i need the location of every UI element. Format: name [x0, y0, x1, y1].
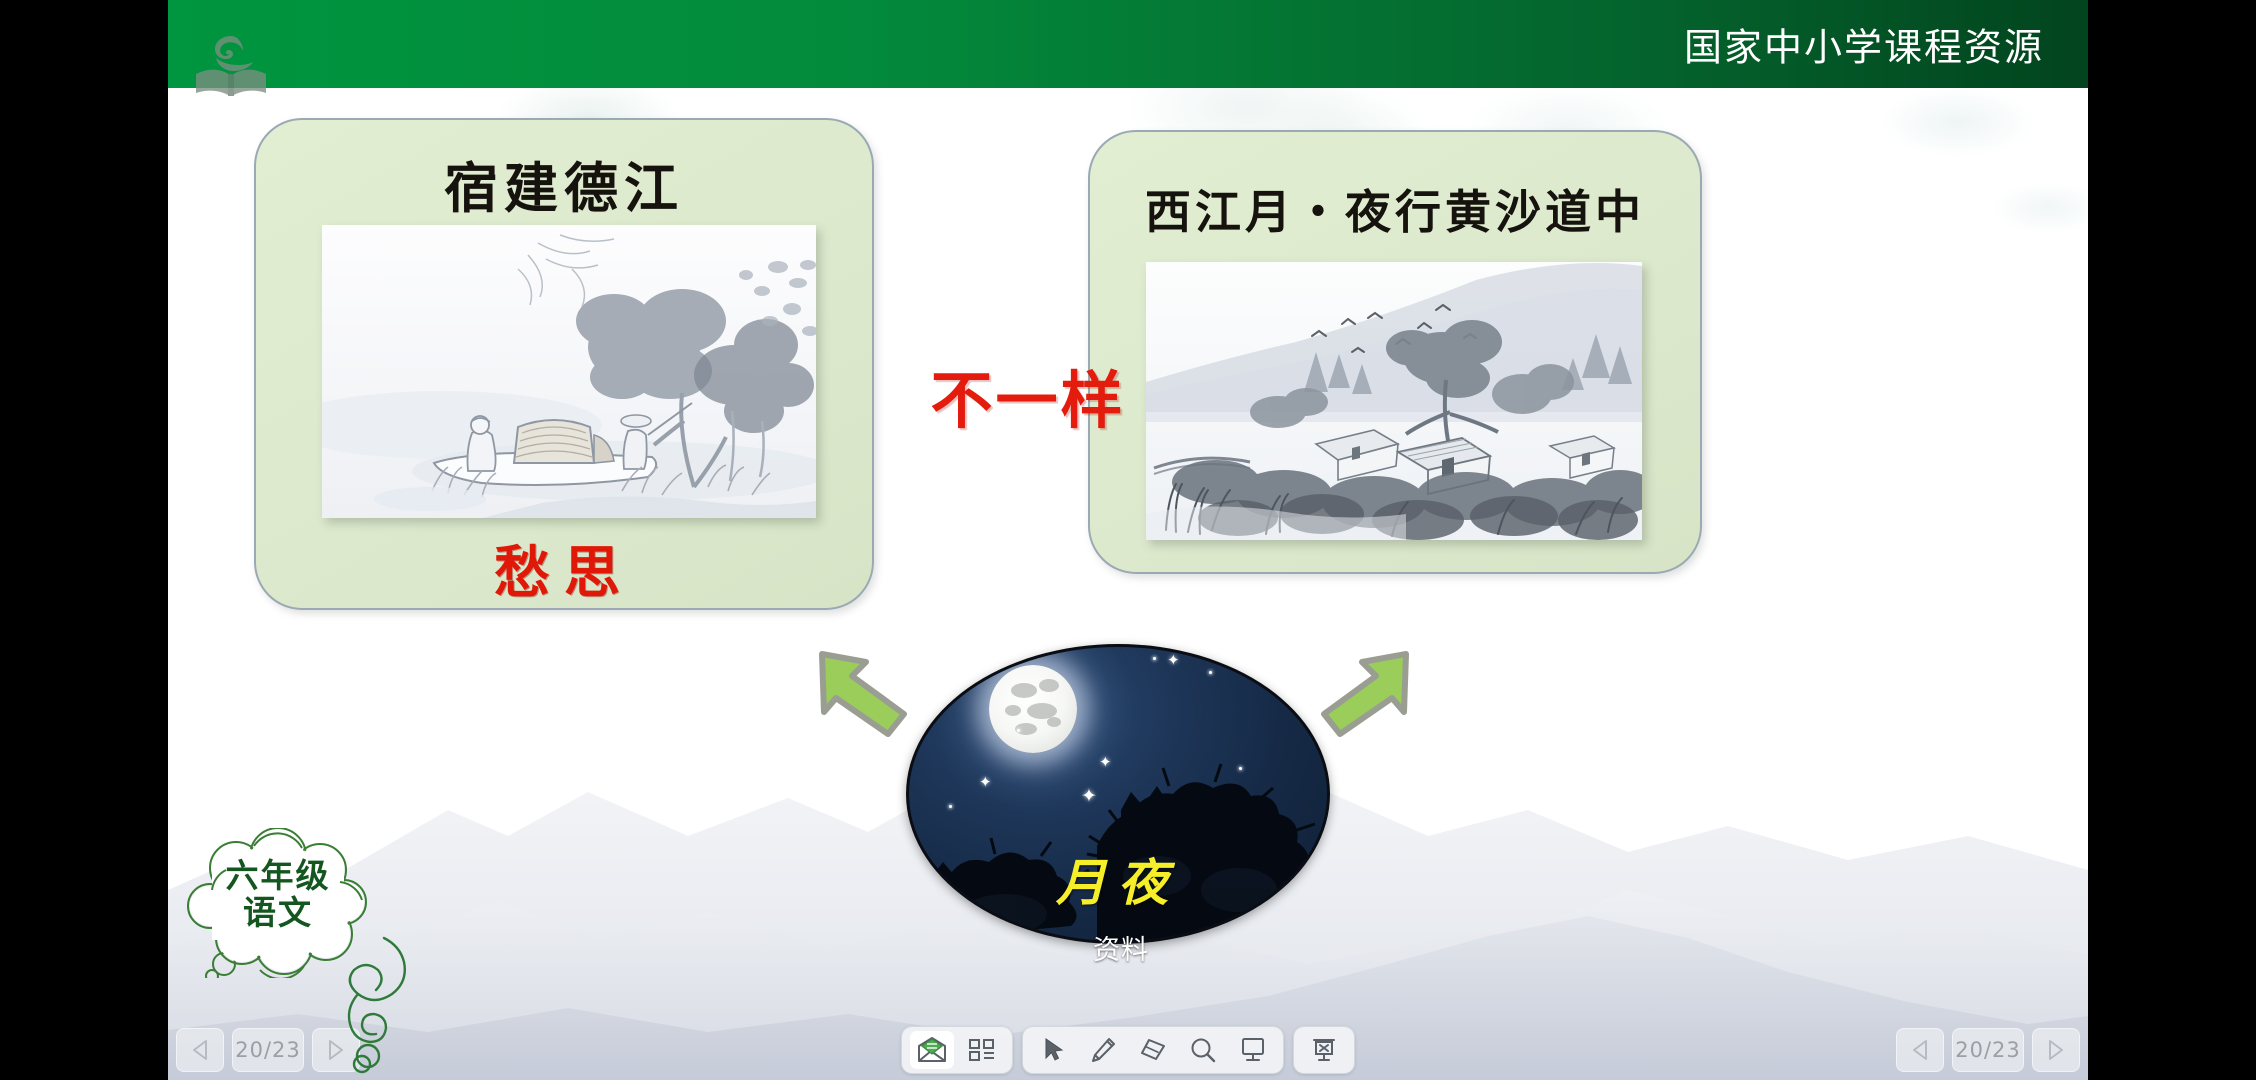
- pen-button[interactable]: [1081, 1031, 1125, 1069]
- layout-grid-icon: [968, 1038, 996, 1062]
- triangle-right-icon: [2045, 1038, 2067, 1062]
- layout-grid-button[interactable]: [960, 1031, 1004, 1069]
- app-header: 国家中小学课程资源: [168, 0, 2088, 88]
- green-ink-scribble-icon: [288, 936, 418, 1076]
- app-viewport: 国家中小学课程资源: [168, 0, 2088, 1080]
- exit-presentation-button[interactable]: [1302, 1031, 1346, 1069]
- poem-title-right: 西江月・夜行黄沙道中: [1090, 176, 1700, 242]
- presentation-toolbar: [901, 1026, 1355, 1074]
- page-counter: 20/23: [1952, 1028, 2024, 1072]
- eraser-button[interactable]: [1131, 1031, 1175, 1069]
- night-scene-title: 月夜: [909, 843, 1327, 915]
- cursor-arrow-button[interactable]: [1031, 1031, 1075, 1069]
- toolbar-group-tools: [1022, 1026, 1284, 1074]
- poem-title-left: 宿建德江: [256, 144, 872, 223]
- arrow-up-left-icon: [808, 642, 920, 746]
- prev-page-button[interactable]: [176, 1028, 224, 1072]
- letterbox-left: [0, 0, 168, 1080]
- next-page-button[interactable]: [2032, 1028, 2080, 1072]
- screen-root: 国家中小学课程资源: [0, 0, 2256, 1080]
- triangle-left-icon: [189, 1038, 211, 1062]
- night-scene-ellipse: ✦ ✦ ✦ ✦: [906, 644, 1330, 944]
- magnifier-icon: [1190, 1037, 1216, 1063]
- ink-painting-boat-river: [322, 225, 816, 518]
- poem-card-right: 西江月・夜行黄沙道中: [1088, 130, 1702, 574]
- pen-icon: [1090, 1037, 1116, 1063]
- contrast-label: 不一样: [908, 350, 1148, 440]
- magnifier-button[interactable]: [1181, 1031, 1225, 1069]
- book-swirl-logo-icon: [192, 30, 270, 100]
- prev-page-button[interactable]: [1896, 1028, 1944, 1072]
- envelope-resource-button[interactable]: [910, 1031, 954, 1069]
- page-nav-right[interactable]: 20/23: [1896, 1028, 2080, 1072]
- header-title: 国家中小学课程资源: [1684, 17, 2044, 72]
- slide-canvas: 宿建德江: [168, 88, 2088, 1080]
- toolbar-group-resources: [901, 1026, 1013, 1074]
- toolbar-group-exit: [1293, 1026, 1355, 1074]
- whiteboard-button[interactable]: [1231, 1031, 1275, 1069]
- star-icon: ✦: [1167, 653, 1180, 668]
- poem-emotion-left: 愁思: [256, 528, 872, 609]
- triangle-left-icon: [1909, 1038, 1931, 1062]
- grade-badge-label: 六年级 语文: [180, 858, 376, 932]
- poem-card-left: 宿建德江: [254, 118, 874, 610]
- whiteboard-icon: [1240, 1037, 1266, 1063]
- eraser-icon: [1140, 1038, 1166, 1062]
- ink-painting-village-hills: [1146, 262, 1642, 540]
- letterbox-right: [2088, 0, 2256, 1080]
- exit-presentation-icon: [1311, 1037, 1337, 1063]
- night-scene-caption: 资料: [1066, 928, 1176, 967]
- cursor-arrow-icon: [1041, 1037, 1065, 1063]
- envelope-resource-icon: [917, 1037, 947, 1063]
